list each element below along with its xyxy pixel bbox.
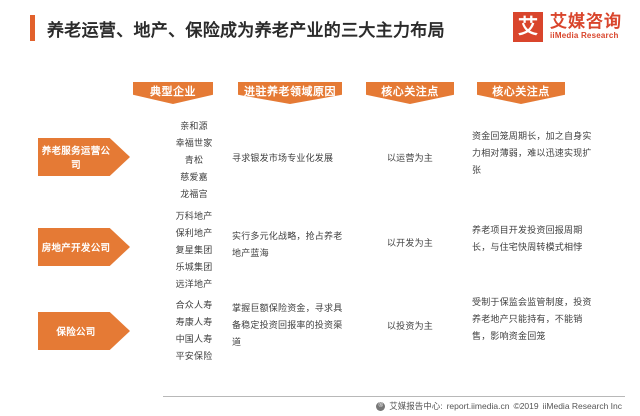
list-item: 亲和源 <box>155 118 233 135</box>
cell-challenge-row2: 养老项目开发投资回报周期长，与住宅快周转模式相悖 <box>472 222 596 256</box>
cell-reason-row3: 掌握巨额保险资金，寻求具备稳定投资回报率的投资渠道 <box>232 300 350 351</box>
brand-name-en: iiMedia Research <box>550 31 622 41</box>
list-item: 保利地产 <box>155 225 233 242</box>
list-item: 远洋地产 <box>155 276 233 293</box>
list-item: 万科地产 <box>155 208 233 225</box>
cell-focus-row3: 以投资为主 <box>360 318 460 335</box>
list-item: 中国人寿 <box>155 331 233 348</box>
cell-companies-row2: 万科地产 保利地产 复星集团 乐城集团 远洋地产 <box>155 208 233 293</box>
footer-org: iiMedia Research Inc <box>543 401 622 411</box>
cell-focus-row1: 以运营为主 <box>360 150 460 167</box>
footer-source-label: 艾媒报告中心: <box>389 400 442 412</box>
cell-reason-row1: 寻求银发市场专业化发展 <box>232 150 350 167</box>
column-header-challenge: 核心关注点 <box>477 82 565 104</box>
footer-url: report.iimedia.cn <box>447 401 510 411</box>
cell-companies-row1: 亲和源 幸福世家 青松 慈爱嘉 龙福宫 <box>155 118 233 203</box>
cell-reason-row2: 实行多元化战略，抢占养老地产蓝海 <box>232 228 350 262</box>
list-item: 慈爱嘉 <box>155 169 233 186</box>
row-label-real-estate-developer: 房地产开发公司 <box>38 228 130 266</box>
cell-companies-row3: 合众人寿 寿康人寿 中国人寿 平安保险 <box>155 297 233 365</box>
brand-name-cn: 艾媒咨询 <box>550 13 622 31</box>
list-item: 平安保险 <box>155 348 233 365</box>
cell-challenge-row3: 受制于保监会监管制度，投资养老地产只能持有，不能销售，影响资金回笼 <box>472 294 596 345</box>
page-title: 养老运营、地产、保险成为养老产业的三大主力布局 <box>47 16 445 41</box>
footer-copyright: ©2019 <box>513 401 538 411</box>
list-item: 寿康人寿 <box>155 314 233 331</box>
column-header-focus: 核心关注点 <box>366 82 454 104</box>
column-header-reason: 进驻养老领域原因 <box>238 82 342 104</box>
list-item: 青松 <box>155 152 233 169</box>
list-item: 复星集团 <box>155 242 233 259</box>
list-item: 幸福世家 <box>155 135 233 152</box>
cell-focus-row2: 以开发为主 <box>360 235 460 252</box>
footer: ® 艾媒报告中心: report.iimedia.cn ©2019 iiMedi… <box>376 400 626 412</box>
slide-page: 养老运营、地产、保险成为养老产业的三大主力布局 艾 艾媒咨询 iiMedia R… <box>0 0 640 416</box>
brand-logo-area: 艾 艾媒咨询 iiMedia Research <box>513 12 622 42</box>
title-accent-bar <box>30 15 35 41</box>
footer-divider <box>163 396 625 397</box>
cell-challenge-row1: 资金回笼周期长，加之自身实力相对薄弱，难以迅速实现扩张 <box>472 128 596 179</box>
brand-wordmark: 艾媒咨询 iiMedia Research <box>550 13 622 40</box>
registered-mark-icon: ® <box>376 402 385 411</box>
list-item: 合众人寿 <box>155 297 233 314</box>
row-label-elderly-care-operator: 养老服务运营公司 <box>38 138 130 176</box>
list-item: 龙福宫 <box>155 186 233 203</box>
row-label-insurance-company: 保险公司 <box>38 312 130 350</box>
column-header-companies: 典型企业 <box>133 82 213 104</box>
list-item: 乐城集团 <box>155 259 233 276</box>
imedia-logo-icon: 艾 <box>513 12 543 42</box>
